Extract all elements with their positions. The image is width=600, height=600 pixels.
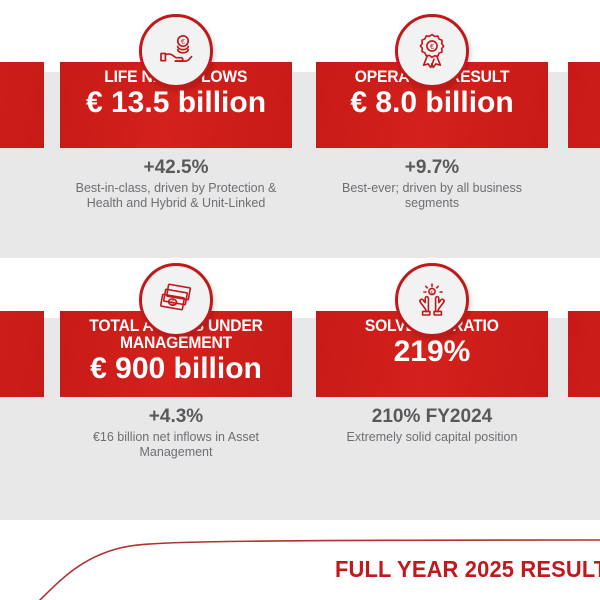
kpi-subtext-group: +9.7% Best-ever; driven by all business … (316, 156, 548, 211)
kpi-subtext-group: th (0, 156, 44, 172)
infographic-stage: n th € LIFE NET INFLOWS (0, 0, 600, 600)
kpi-redbox (0, 311, 44, 397)
kpi-redbox: n (0, 62, 44, 148)
svg-text:€: € (430, 42, 434, 51)
kpi-value: € 900 billion (90, 352, 262, 386)
kpi-value: € 8.0 billion (350, 86, 513, 120)
kpi-value: 219% (394, 335, 471, 369)
kpi-note: th (0, 156, 44, 172)
svg-text:€: € (181, 39, 185, 46)
kpi-delta: +4.3% (60, 405, 292, 429)
kpi-value: € 13.5 billion (86, 86, 266, 120)
kpi-note: G (568, 156, 600, 172)
kpi-note: Extremely solid capital position (316, 429, 548, 445)
kpi-redbox: P (568, 311, 600, 397)
svg-text:€: € (431, 290, 434, 295)
kpi-subtext-group: +4.3% €16 billion net inflows in Asset M… (60, 405, 292, 460)
kpi-note: Best-ever; driven by all business segmen… (316, 180, 548, 211)
kpi-note: And buy to i (568, 405, 600, 421)
hand-with-euro-coins-icon: € (139, 14, 213, 88)
euro-award-rosette-icon: € (395, 14, 469, 88)
kpi-delta: +9.7% (316, 156, 548, 180)
banner-title: FULL YEAR 2025 RESULT (335, 556, 600, 583)
kpi-row-1: n th € LIFE NET INFLOWS (0, 14, 600, 264)
kpi-subtext-group: 210% FY2024 Extremely solid capital posi… (316, 405, 548, 445)
hands-protecting-coin-icon: € (395, 263, 469, 337)
kpi-delta: 210% FY2024 (316, 405, 548, 429)
kpi-note: oup; lly to (0, 405, 44, 421)
footer-banner: FULL YEAR 2025 RESULT (0, 520, 600, 600)
kpi-redbox (568, 62, 600, 148)
kpi-delta: +42.5% (60, 156, 292, 180)
kpi-note: €16 billion net inflows in Asset Managem… (60, 429, 292, 460)
kpi-subtext-group: oup; lly to (0, 405, 44, 421)
kpi-subtext-group: +42.5% Best-in-class, driven by Protecti… (60, 156, 292, 211)
kpi-subtext-group: G (568, 156, 600, 172)
kpi-note: Best-in-class, driven by Protection & He… (60, 180, 292, 211)
banknotes-euro-icon: € (139, 263, 213, 337)
kpi-subtext-group: And buy to i (568, 405, 600, 421)
kpi-row-2: oup; lly to € TOTAL ASSETS UNDER MANAGEM… (0, 263, 600, 523)
